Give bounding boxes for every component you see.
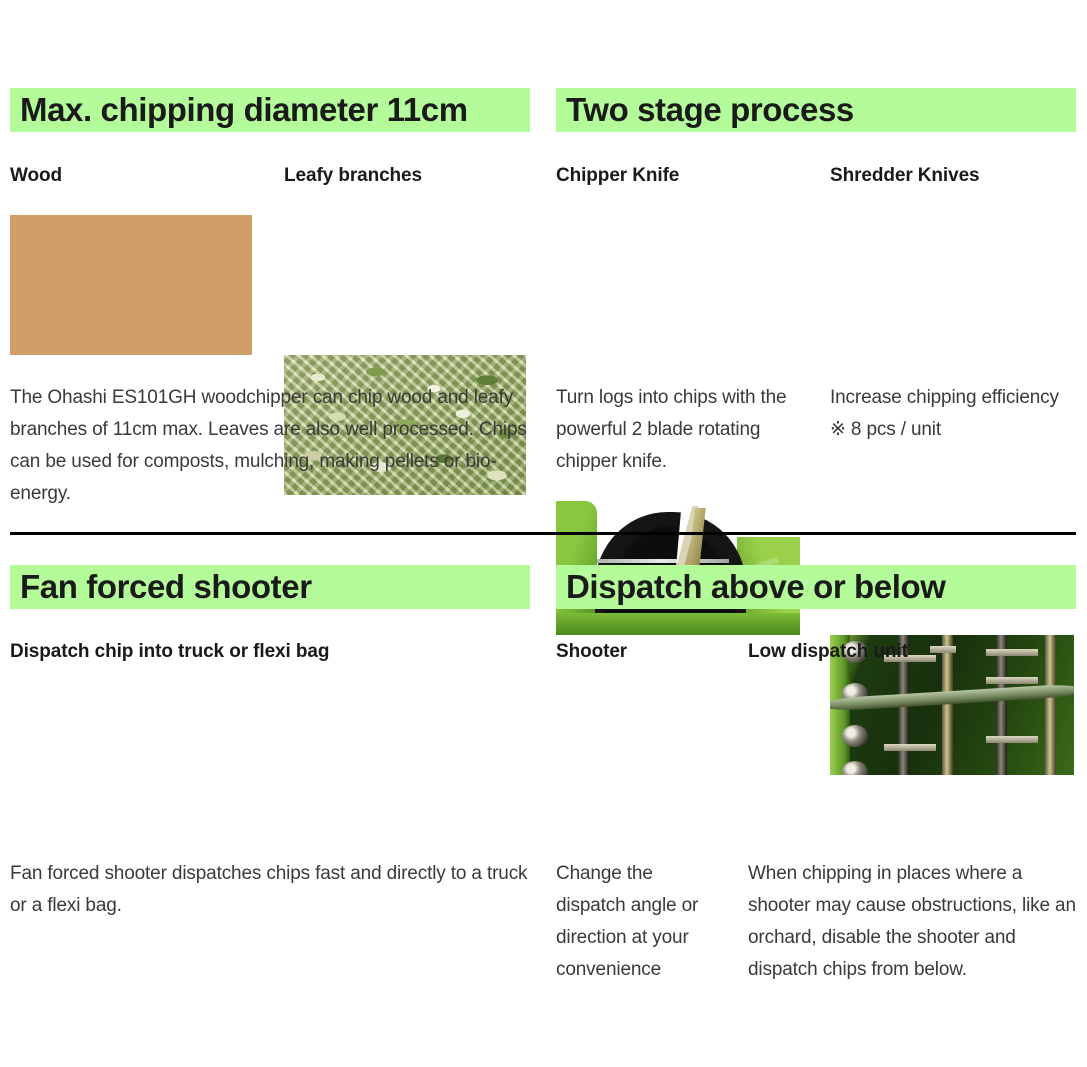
drum-band [597, 559, 729, 563]
shredder-bolt [842, 761, 868, 775]
shredder-bolt [842, 725, 868, 747]
shredder-disc [884, 744, 936, 751]
wood-chips-photo [10, 215, 252, 355]
body-text-fan-forced-shooter: Fan forced shooter dispatches chips fast… [10, 858, 530, 922]
machine-body-bottom [556, 613, 800, 635]
section-title: Max. chipping diameter 11cm [20, 90, 468, 130]
subheading-leafy-branches: Leafy branches [284, 165, 524, 187]
shredder-disc [986, 736, 1038, 743]
subheading-low-dispatch-unit: Low dispatch unit [748, 641, 1048, 663]
subheading-shredder-knives: Shredder Knives [830, 165, 1070, 187]
subheading-dispatch-chip: Dispatch chip into truck or flexi bag [10, 641, 510, 663]
subheading-shooter: Shooter [556, 641, 736, 663]
section-header-max-chipping-diameter: Max. chipping diameter 11cm [10, 88, 530, 132]
shredder-disc [986, 677, 1038, 684]
body-text-chipper-knife: Turn logs into chips with the powerful 2… [556, 382, 788, 478]
section-title: Two stage process [566, 90, 854, 130]
section-title: Fan forced shooter [20, 567, 312, 607]
body-text-shredder-knives: Increase chipping efficiency ※ 8 pcs / u… [830, 382, 1080, 446]
section-header-dispatch-above-or-below: Dispatch above or below [556, 565, 1076, 609]
body-text-low-dispatch-unit: When chipping in places where a shooter … [748, 858, 1078, 986]
section-divider [10, 532, 1076, 535]
section-header-two-stage-process: Two stage process [556, 88, 1076, 132]
section-title: Dispatch above or below [566, 567, 946, 607]
product-feature-page: Max. chipping diameter 11cm Wood Leafy b… [0, 0, 1087, 1067]
subheading-wood: Wood [10, 165, 250, 187]
body-text-shooter: Change the dispatch angle or direction a… [556, 858, 726, 986]
section-header-fan-forced-shooter: Fan forced shooter [10, 565, 530, 609]
body-text-max-chipping-diameter: The Ohashi ES101GH woodchipper can chip … [10, 382, 528, 510]
subheading-chipper-knife: Chipper Knife [556, 165, 796, 187]
